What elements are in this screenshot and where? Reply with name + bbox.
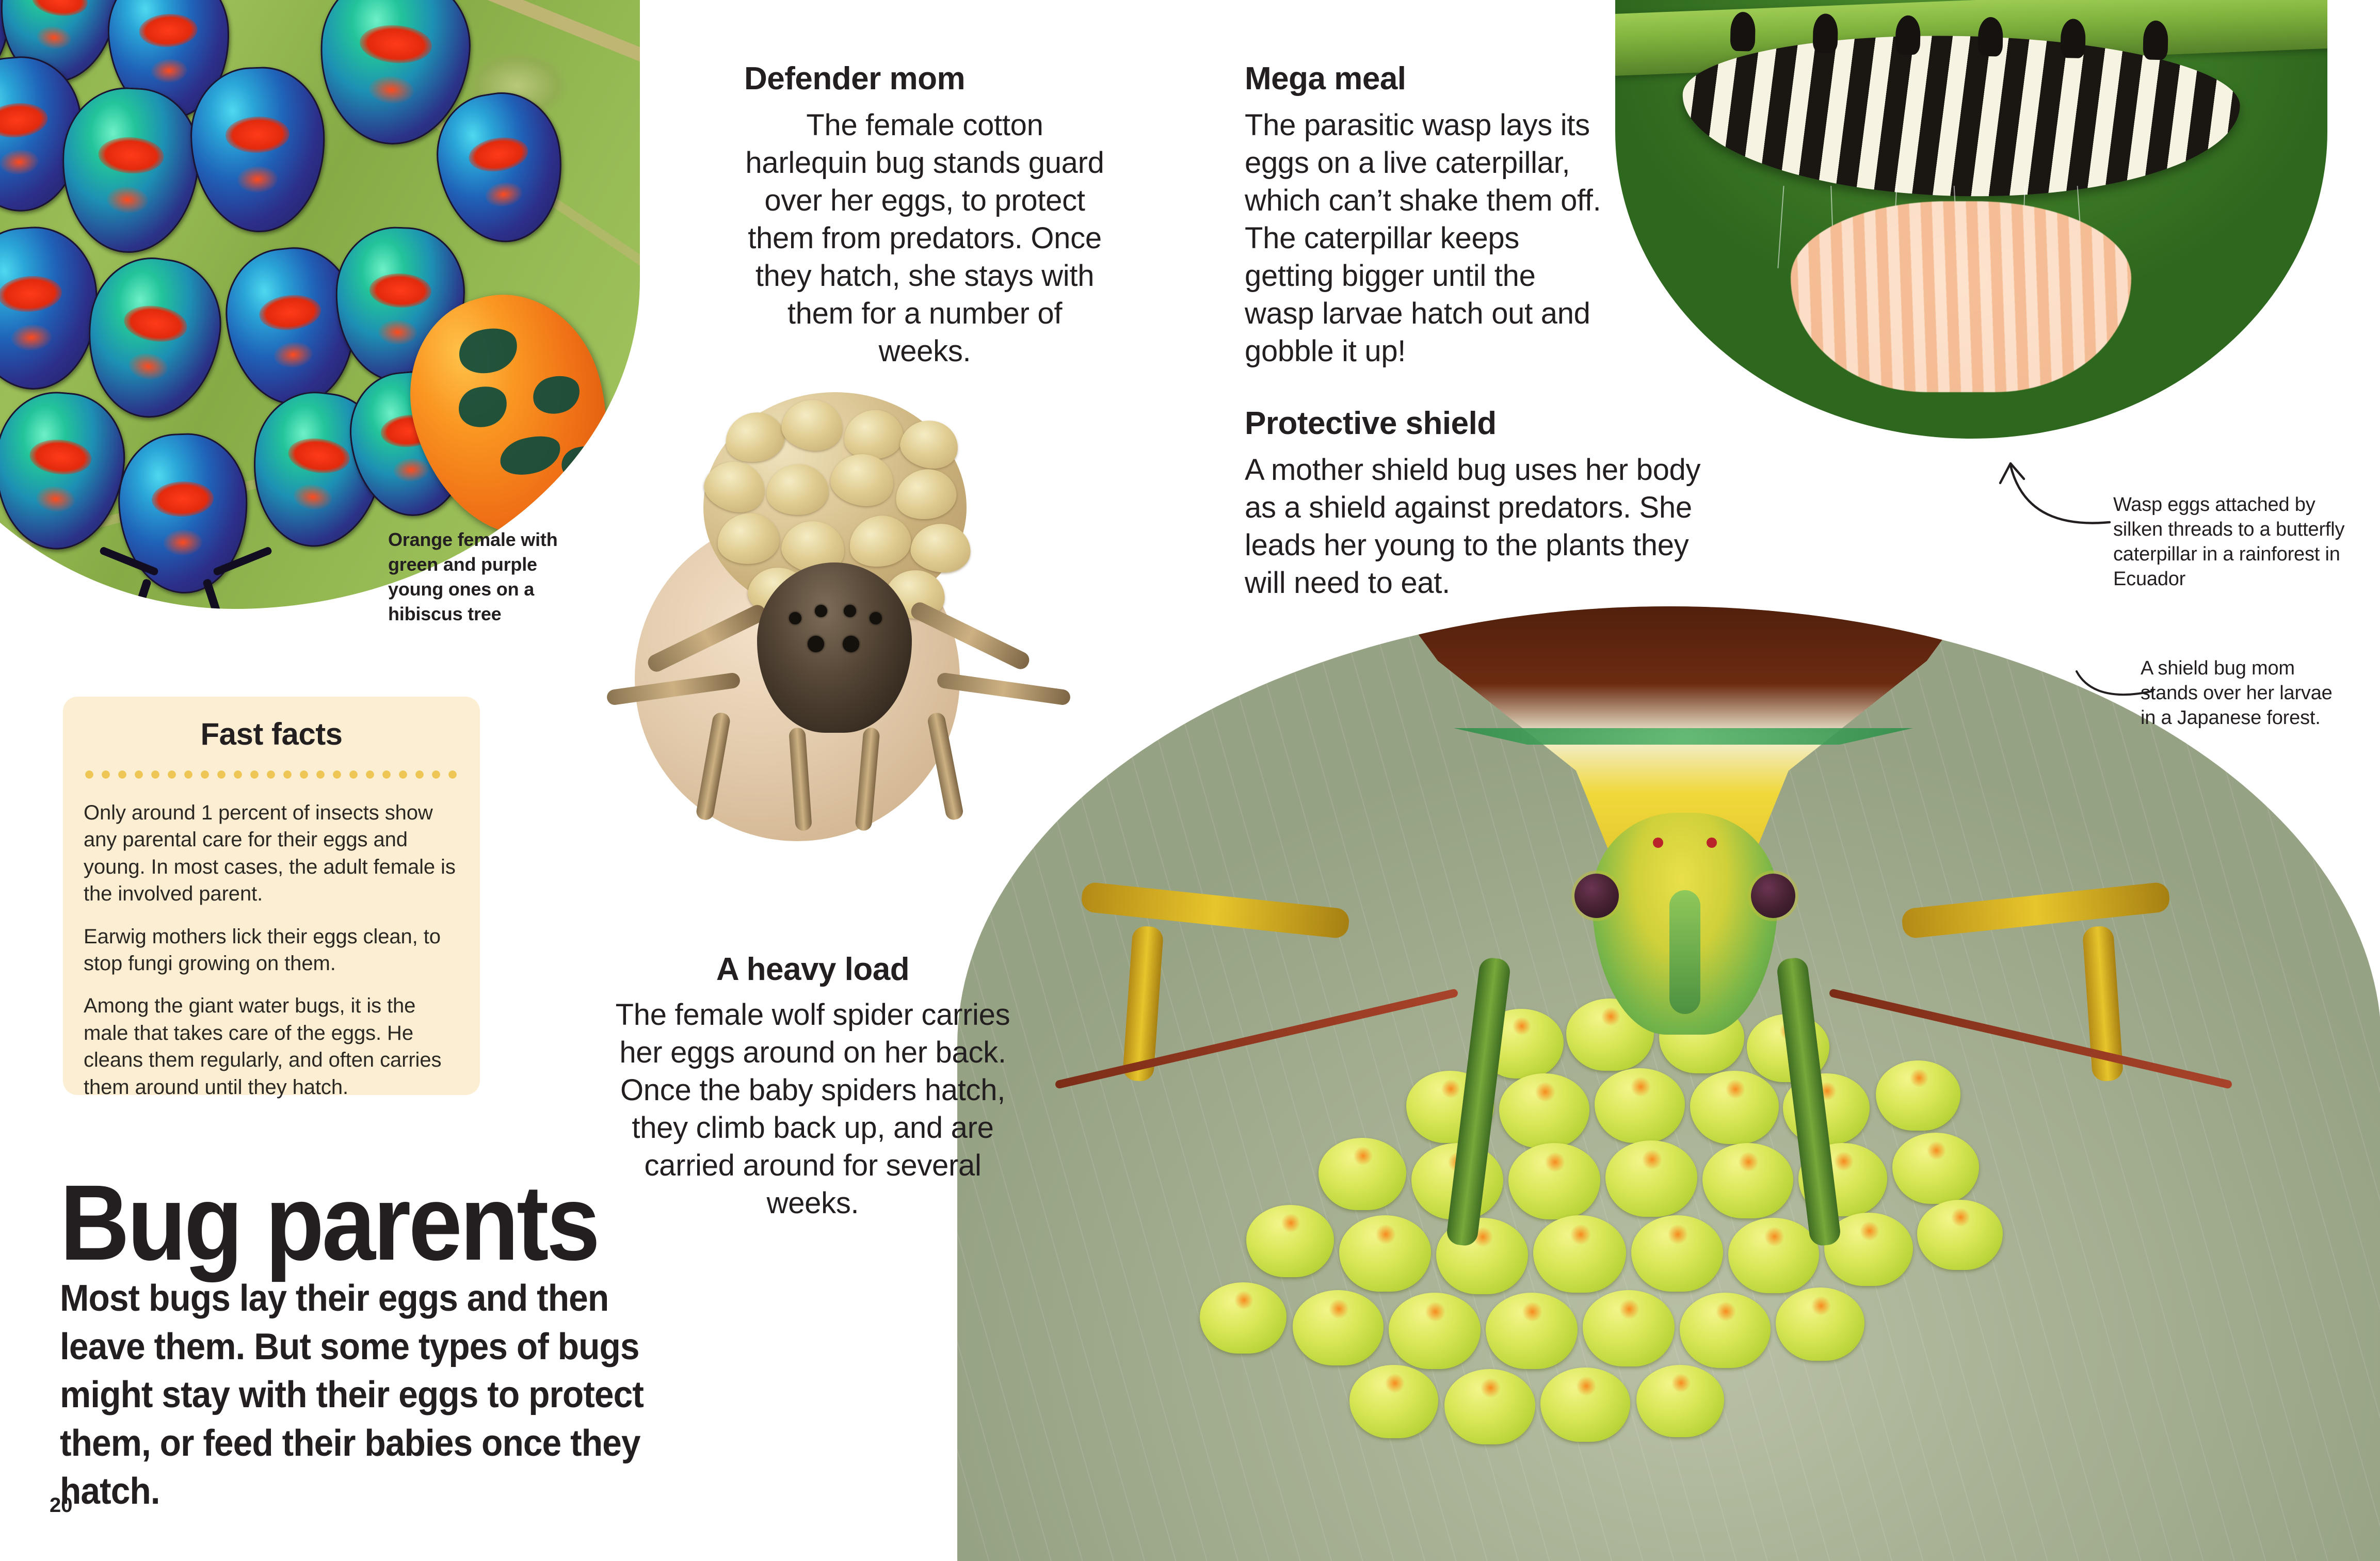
photo-harlequin-bugs — [0, 0, 640, 609]
heading-defender-mom: Defender mom — [744, 63, 1105, 95]
fast-fact-item: Earwig mothers lick their eggs clean, to… — [84, 923, 459, 977]
page-intro-paragraph: Most bugs lay their eggs and then leave … — [60, 1275, 690, 1516]
fast-facts-panel: Fast facts Only around 1 percent of inse… — [63, 697, 480, 1095]
fast-fact-item: Only around 1 percent of insects show an… — [84, 799, 459, 908]
body-defender-mom: The female cotton harlequin bug stands g… — [744, 106, 1105, 371]
body-protective-shield: A mother shield bug uses her body as a s… — [1245, 451, 1709, 602]
section-defender-mom: Defender mom The female cotton harlequin… — [744, 63, 1105, 371]
book-spread-page: Orange female with green and purple youn… — [0, 0, 2380, 1557]
heading-heavy-load: A heavy load — [609, 954, 1017, 986]
section-protective-shield: Protective shield A mother shield bug us… — [1245, 408, 1709, 602]
page-title: Bug parents — [60, 1174, 710, 1273]
heading-protective-shield: Protective shield — [1245, 408, 1709, 440]
caption-harlequin-photo: Orange female with green and purple youn… — [388, 527, 594, 626]
photo-shield-bug-mom — [957, 606, 2380, 1561]
fast-facts-dotted-divider — [81, 770, 462, 779]
caption-wasp-eggs: Wasp eggs attached by silken threads to … — [2113, 493, 2356, 592]
heading-mega-meal: Mega meal — [1245, 63, 1611, 95]
caption-shield-bug: A shield bug mom stands over her larvae … — [2141, 656, 2347, 731]
section-mega-meal: Mega meal The parasitic wasp lays its eg… — [1245, 63, 1611, 371]
body-mega-meal: The parasitic wasp lays its eggs on a li… — [1245, 106, 1611, 371]
page-number: 20 — [50, 1494, 73, 1517]
photo-wolf-spider — [635, 516, 960, 841]
fast-fact-item: Among the giant water bugs, it is the ma… — [84, 992, 459, 1101]
fast-facts-title: Fast facts — [63, 716, 480, 752]
photo-caterpillar-wasp-eggs — [1615, 0, 2327, 439]
